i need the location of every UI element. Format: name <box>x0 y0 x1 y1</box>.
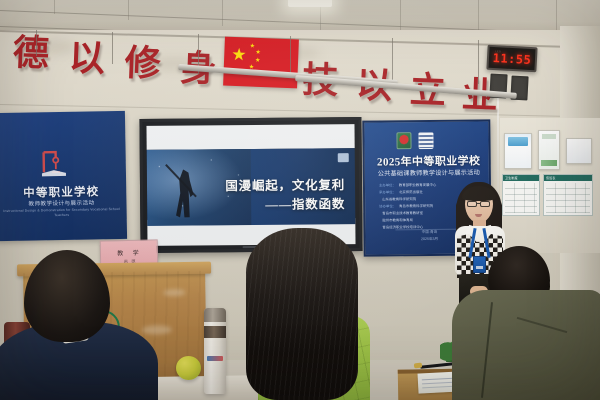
ceiling-light <box>288 0 332 7</box>
desk-pen <box>420 362 454 369</box>
wall-poster-health <box>504 133 532 169</box>
presenter-fringe <box>462 186 496 201</box>
wall-chart-right-grid <box>546 183 590 213</box>
classroom-photo-scene: 德 以 修 身 技 以 立 业 ★ ★ ★ ★ ★ LED 11:55 中等 <box>0 0 600 400</box>
slogan-char-3: 修 <box>124 45 161 82</box>
slide-corner-badge <box>338 153 349 162</box>
wall-chart-right-header: 值班表 <box>544 175 592 181</box>
board-logos <box>396 132 433 149</box>
presentation-slide: 国漫崛起，文化复利 ——指数函数 <box>147 148 356 226</box>
slide-title: 国漫崛起，文化复利 <box>225 174 345 194</box>
wall-chart-left-header: 卫生制度 <box>503 175 539 181</box>
flag-star-large: ★ <box>231 46 247 64</box>
green-fruit <box>176 356 201 380</box>
student-center-hair <box>246 228 358 400</box>
wall-poster-safety <box>538 130 560 170</box>
audience-student-center <box>220 228 390 400</box>
glasses-lens-left <box>467 201 477 207</box>
wall-chart-right: 值班表 <box>543 174 593 216</box>
audience-judge-right <box>452 280 600 400</box>
audience-student-left <box>2 250 152 400</box>
ceiling-cable-6 <box>478 40 479 84</box>
glasses-bridge <box>477 203 480 204</box>
flag-star-small-1: ★ <box>249 44 255 50</box>
judge-right-olive-jacket <box>452 290 600 400</box>
flag-star-small-3: ★ <box>255 58 261 64</box>
slogan-char-2: 以 <box>68 40 105 77</box>
ceiling-cable-1 <box>36 30 37 56</box>
organizer-logo-icon-2 <box>418 132 433 149</box>
presenter-id-badge <box>473 256 486 273</box>
banner-emblem-icon <box>36 148 73 179</box>
led-clock: LED 11:55 <box>486 45 537 73</box>
clock-brand-label: LED <box>495 50 501 53</box>
desk-pen-cap <box>414 363 422 369</box>
glasses-lens-right <box>480 201 490 207</box>
left-banner-english: Instructional Design & Demonstration for… <box>0 207 127 219</box>
left-event-banner: 中等职业学校 教师教学设计与展示活动 Instructional Design … <box>0 111 127 241</box>
china-flag: ★ ★ ★ ★ ★ <box>223 37 299 89</box>
organizer-logo-icon-1 <box>396 132 411 149</box>
slogan-char-1: 德 <box>12 35 49 72</box>
slide-letterbox-top <box>146 124 354 150</box>
wall-poster-info <box>566 138 592 164</box>
student-left-hair <box>24 250 110 342</box>
slide-subtitle: ——指数函数 <box>265 193 345 213</box>
ceiling-cable-2 <box>112 32 113 64</box>
flag-star-small-2: ★ <box>255 50 261 56</box>
board-subtitle: 公共基础课教师教学设计与展示活动 <box>365 167 492 177</box>
